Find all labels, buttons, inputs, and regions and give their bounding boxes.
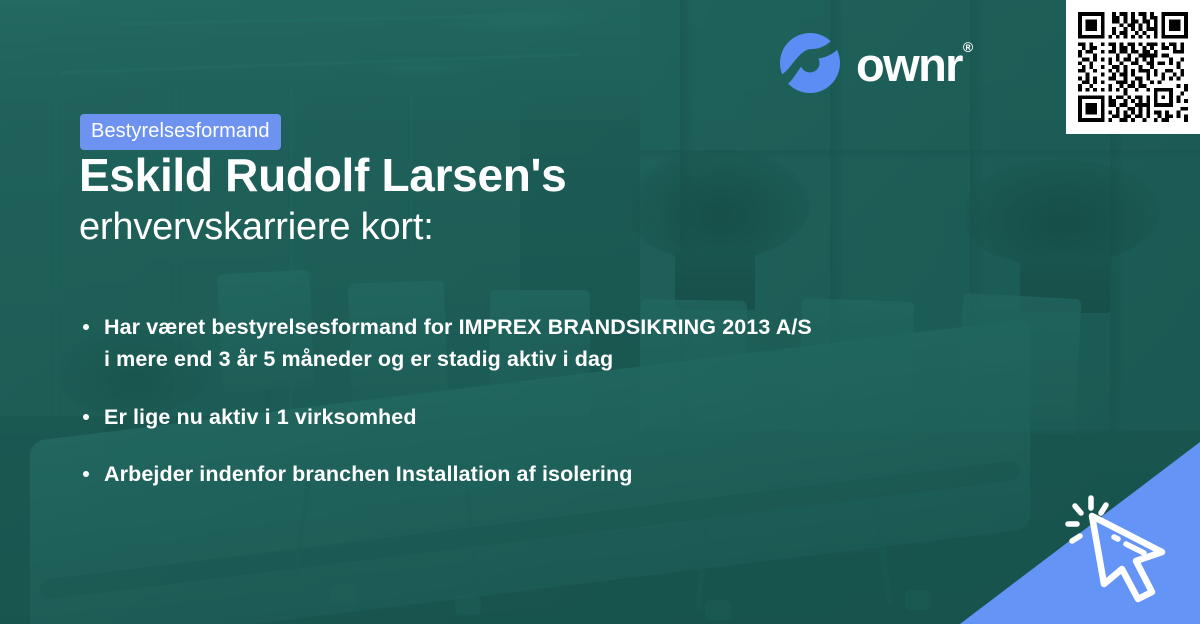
bullet-icon — [83, 324, 89, 330]
qr-code-icon — [1078, 12, 1188, 122]
role-badge: Bestyrelsesformand — [80, 114, 281, 150]
bullet-icon — [83, 414, 89, 420]
list-item: Arbejder indenfor branchen Installation … — [80, 459, 1000, 491]
fact-list: Har været bestyrelsesformand for IMPREX … — [80, 312, 1000, 491]
page-subtitle: erhvervskarriere kort: — [79, 208, 434, 246]
fact-line-1: Er lige nu aktiv i 1 virksomhed — [104, 405, 417, 429]
ownr-wordmark: ownr® — [856, 41, 972, 88]
registered-trademark-icon: ® — [963, 39, 973, 55]
list-item: Er lige nu aktiv i 1 virksomhed — [80, 402, 1000, 434]
qr-code-panel[interactable] — [1066, 0, 1200, 134]
click-cursor-icon — [1058, 486, 1188, 616]
page-title: Eskild Rudolf Larsen's — [79, 152, 566, 198]
bullet-icon — [83, 471, 89, 477]
list-item: Har været bestyrelsesformand for IMPREX … — [80, 312, 1000, 376]
fact-line-1: Arbejder indenfor branchen Installation … — [104, 462, 632, 486]
fact-line-2: i mere end 3 år 5 måneder og er stadig a… — [104, 344, 1000, 376]
ownr-circle-swoosh-icon — [778, 31, 842, 95]
ownr-logo[interactable]: ownr® — [778, 31, 972, 95]
wordmark-text: ownr — [856, 38, 962, 91]
career-card: Bestyrelsesformand Eskild Rudolf Larsen'… — [0, 0, 1200, 624]
fact-line-1: Har været bestyrelsesformand for IMPREX … — [104, 315, 812, 339]
